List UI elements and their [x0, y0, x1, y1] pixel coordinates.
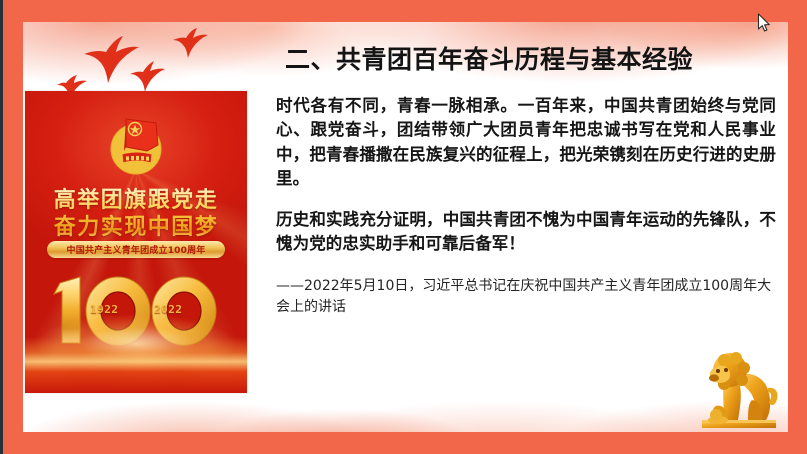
- poster-headline-line1: 高举团旗跟党走: [25, 187, 247, 214]
- body-paragraph-2: 历史和实践充分证明，中国共青团不愧为中国青年运动的先锋队，不愧为党的忠实助手和可…: [276, 208, 776, 257]
- golden-guardian-lion-statue-icon: [690, 336, 786, 432]
- cyl-anniversary-poster: 高举团旗跟党走 奋力实现中国梦 中国共产主义青年团成立100周年: [25, 91, 247, 393]
- poster-headline: 高举团旗跟党走 奋力实现中国梦: [25, 187, 247, 242]
- slide-content: 二、共青团百年奋斗历程与基本经验 时代各有不同，青春一脉相承。一百年来，中国共青…: [276, 40, 776, 318]
- presentation-slide: 高举团旗跟党走 奋力实现中国梦 中国共产主义青年团成立100周年: [0, 0, 807, 454]
- slide-page: 高举团旗跟党走 奋力实现中国梦 中国共产主义青年团成立100周年: [23, 22, 788, 432]
- communist-youth-league-emblem: [100, 109, 172, 177]
- poster-headline-line2: 奋力实现中国梦: [25, 214, 247, 241]
- page-title: 二、共青团百年奋斗历程与基本经验: [285, 40, 776, 76]
- poster-ribbon-text: 中国共产主义青年团成立100周年: [67, 243, 206, 256]
- poster-year-start: 1922: [90, 303, 119, 316]
- poster-100-numeral: 1922 2022: [46, 267, 226, 351]
- poster-year-end: 2022: [154, 303, 183, 316]
- body-paragraph-1: 时代各有不同，青春一脉相承。一百年来，中国共青团始终与党同心、跟党奋斗，团结带领…: [276, 94, 776, 192]
- source-attribution: ——2022年5月10日，习近平总书记在庆祝中国共产主义青年团成立100周年大会…: [276, 276, 776, 318]
- poster-ribbon: 中国共产主义青年团成立100周年: [47, 241, 225, 258]
